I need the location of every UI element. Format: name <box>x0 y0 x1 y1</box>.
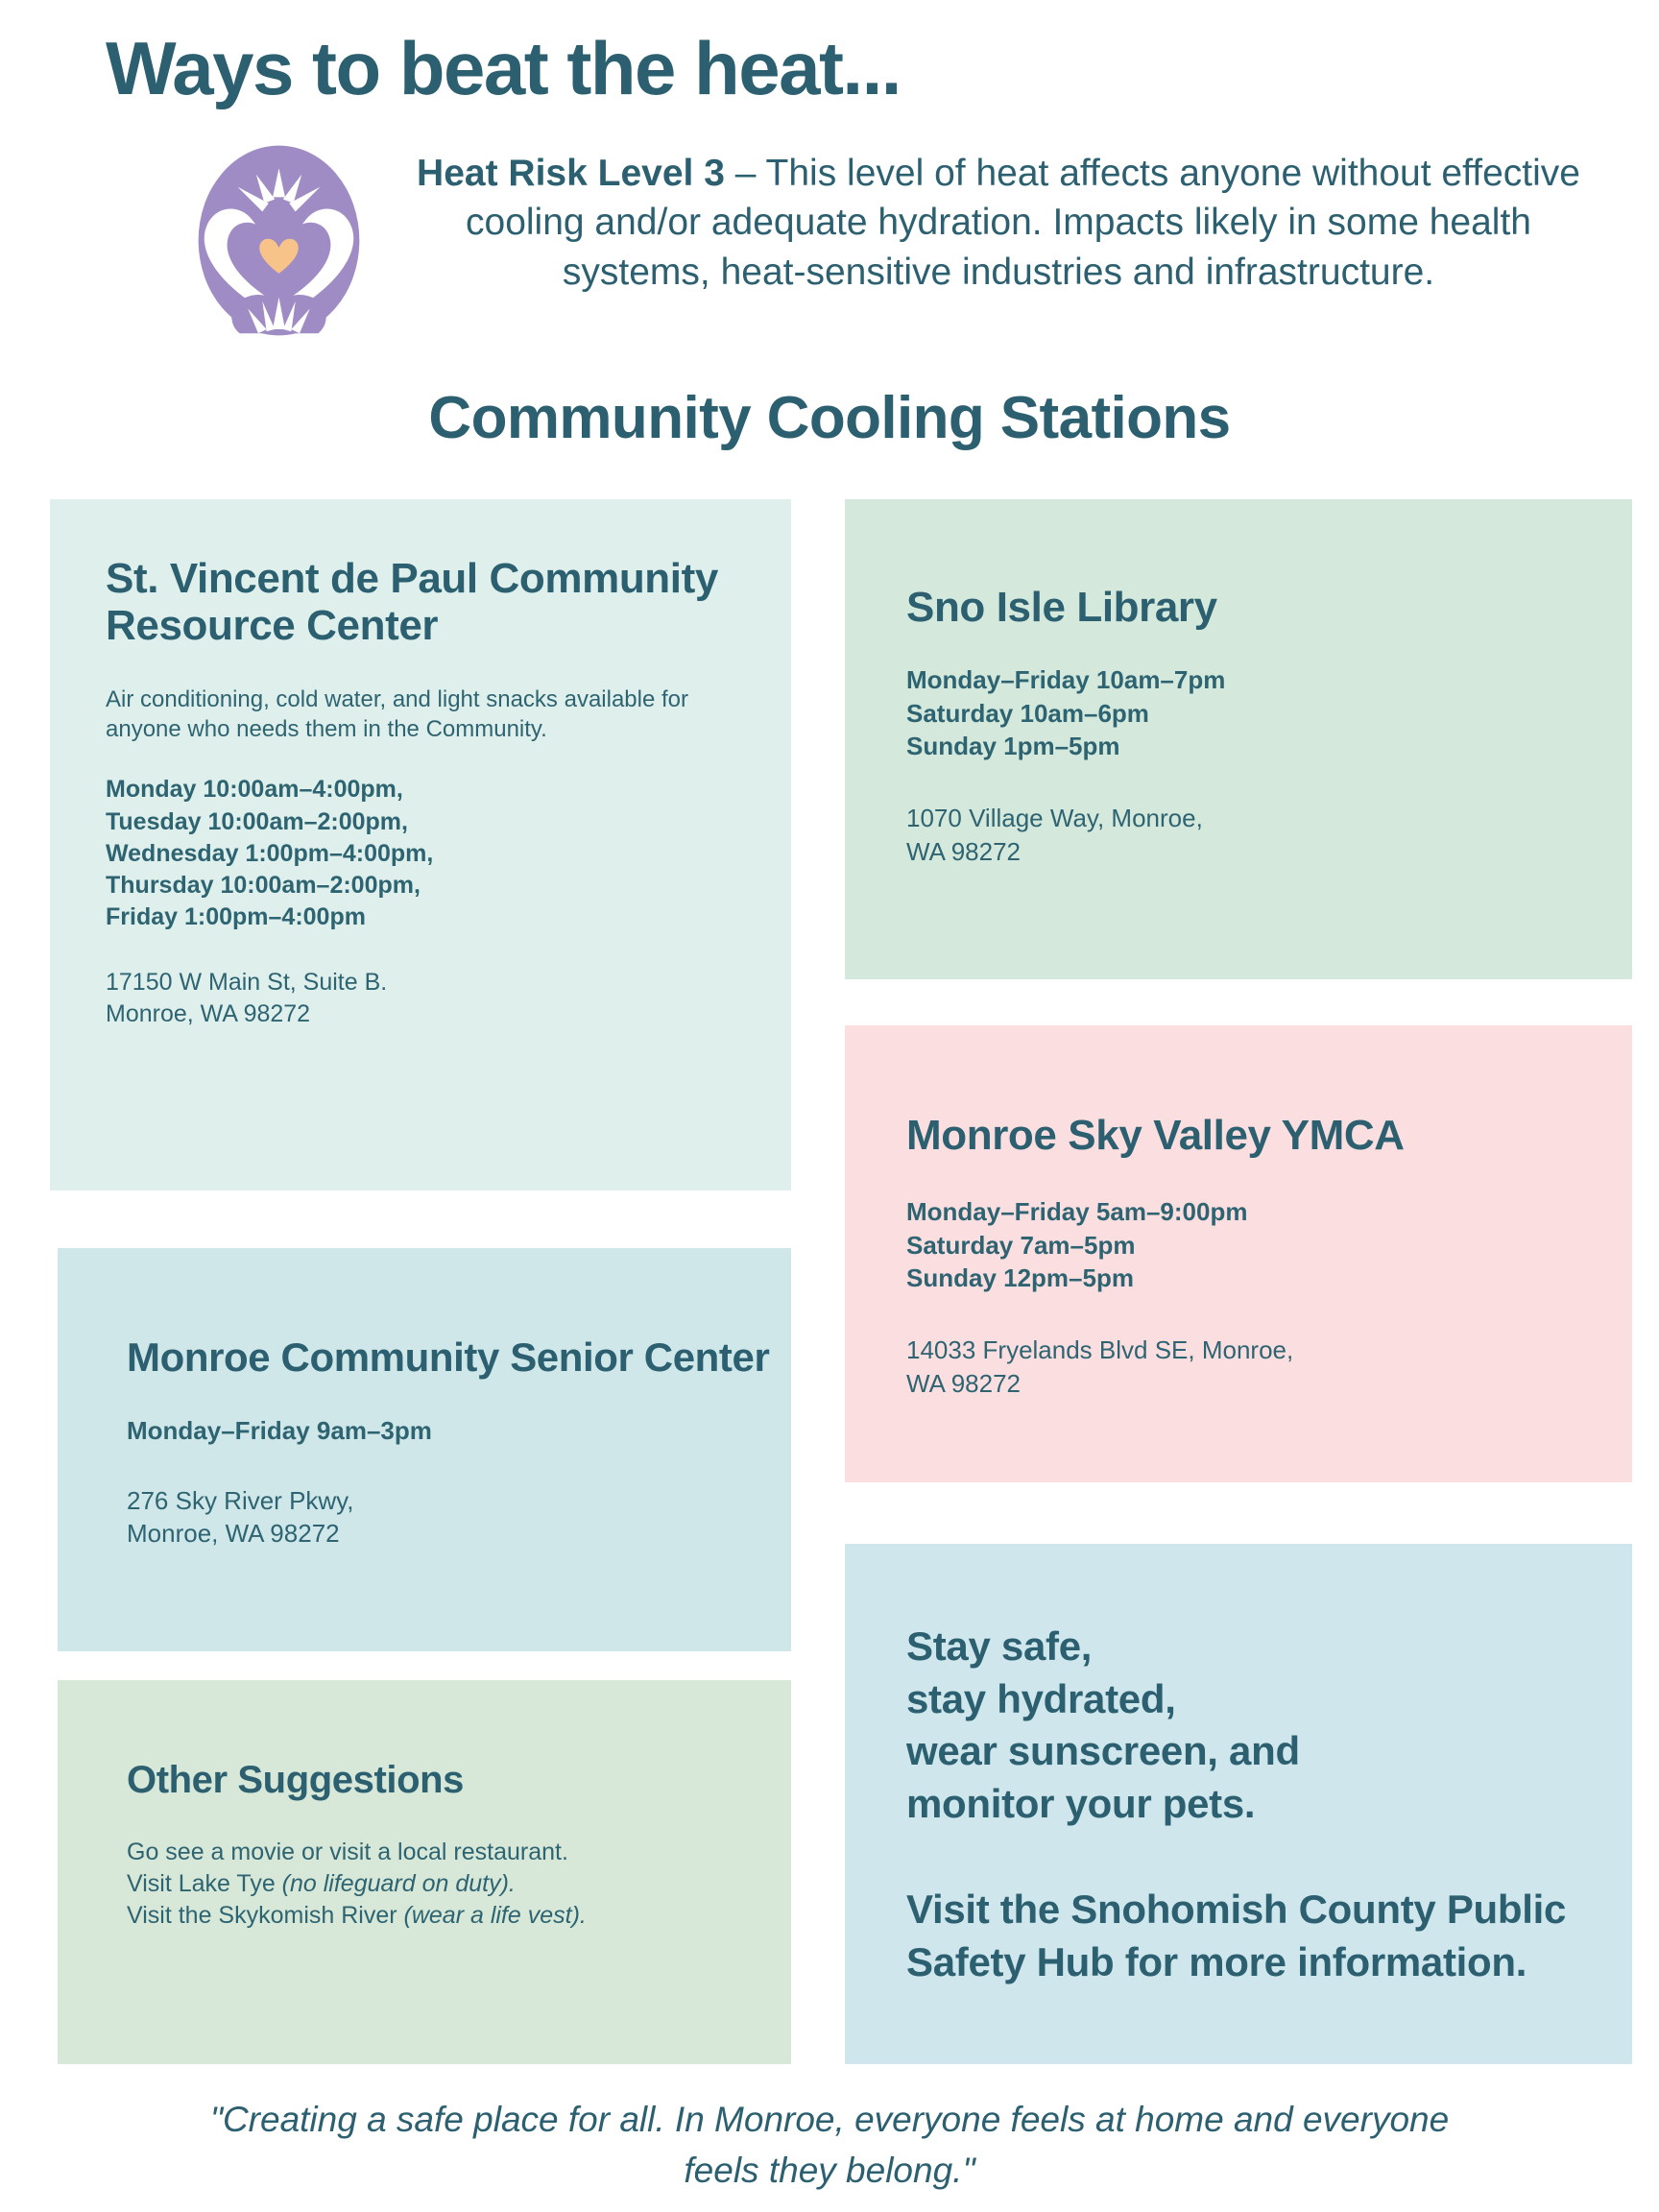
card-address: 1070 Village Way, Monroe,WA 98272 <box>906 802 1632 868</box>
hands-heart-sunburst-logo <box>176 137 382 344</box>
stay-safe-message: Stay safe,stay hydrated,wear sunscreen, … <box>906 1621 1632 1830</box>
section-title: Community Cooling Stations <box>0 384 1659 452</box>
card-monroe-sky-valley-ymca: Monroe Sky Valley YMCA Monday–Friday 5am… <box>845 1025 1632 1482</box>
card-suggestions: Go see a movie or visit a local restaura… <box>127 1837 791 1933</box>
card-address: 276 Sky River Pkwy,Monroe, WA 98272 <box>127 1484 791 1551</box>
card-hours: Monday–Friday 9am–3pm <box>127 1414 791 1448</box>
card-address: 17150 W Main St, Suite B.Monroe, WA 9827… <box>106 967 735 1031</box>
card-description: Air conditioning, cold water, and light … <box>106 685 735 746</box>
card-hours: Monday–Friday 10am–7pmSaturday 10am–6pmS… <box>906 663 1632 763</box>
card-title: Monroe Community Senior Center <box>127 1334 791 1380</box>
footer-quote: "Creating a safe place for all. In Monro… <box>173 2095 1486 2196</box>
infographic-page: Ways to beat the heat... <box>0 0 1659 2212</box>
card-title: Other Suggestions <box>127 1759 791 1802</box>
card-hours: Monday–Friday 5am–9:00pmSaturday 7am–5pm… <box>906 1195 1632 1295</box>
card-monroe-community-senior-center: Monroe Community Senior Center Monday–Fr… <box>58 1248 791 1651</box>
card-title: Sno Isle Library <box>906 584 1632 631</box>
card-title: St. Vincent de Paul Community Resource C… <box>106 555 735 650</box>
public-safety-hub-message: Visit the Snohomish County Public Safety… <box>906 1884 1632 1988</box>
card-stay-safe: Stay safe,stay hydrated,wear sunscreen, … <box>845 1544 1632 2064</box>
card-sno-isle-library: Sno Isle Library Monday–Friday 10am–7pmS… <box>845 499 1632 979</box>
card-title: Monroe Sky Valley YMCA <box>906 1112 1632 1159</box>
suggestion-line-1: Go see a movie or visit a local restaura… <box>127 1839 568 1865</box>
card-st-vincent-de-paul: St. Vincent de Paul Community Resource C… <box>50 499 791 1190</box>
card-other-suggestions: Other Suggestions Go see a movie or visi… <box>58 1680 791 2064</box>
page-title: Ways to beat the heat... <box>106 31 901 106</box>
suggestion-line-3-plain: Visit the Skykomish River <box>127 1902 404 1929</box>
suggestion-line-2-plain: Visit Lake Tye <box>127 1870 282 1897</box>
suggestion-line-2-italic: (no lifeguard on duty). <box>282 1870 516 1897</box>
card-address: 14033 Fryelands Blvd SE, Monroe,WA 98272 <box>906 1334 1632 1400</box>
heat-risk-intro: Heat Risk Level 3 – This level of heat a… <box>413 149 1584 297</box>
heat-risk-level-label: Heat Risk Level 3 <box>417 153 725 194</box>
card-hours: Monday 10:00am–4:00pm,Tuesday 10:00am–2:… <box>106 774 735 933</box>
suggestion-line-3-italic: (wear a life vest). <box>404 1902 587 1929</box>
